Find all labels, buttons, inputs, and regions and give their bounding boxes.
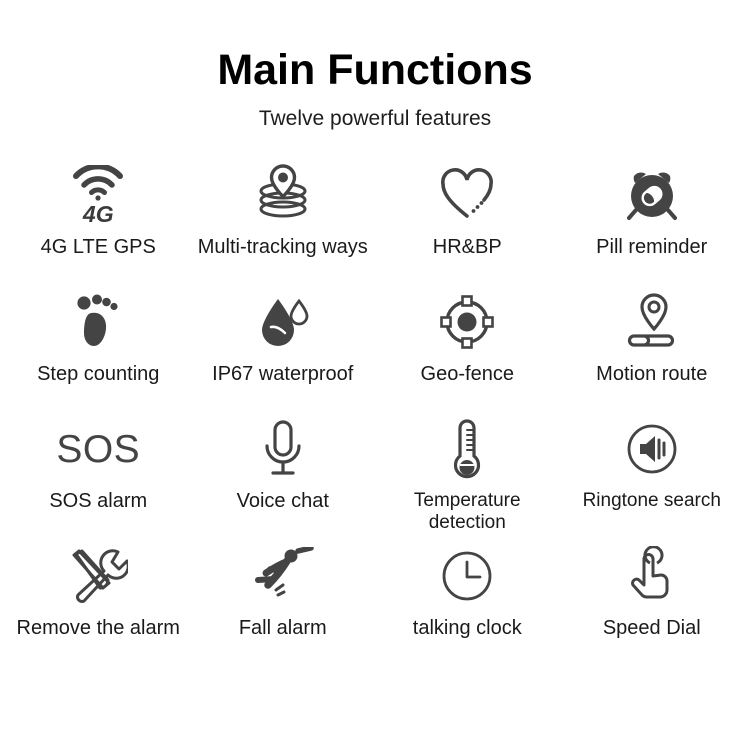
page-subtitle: Twelve powerful features [0, 107, 750, 130]
feature-label: Multi-tracking ways [198, 236, 368, 258]
feature-item-remove-the-alarm[interactable]: Remove the alarm [6, 543, 191, 670]
feature-item-talking-clock[interactable]: talking clock [375, 543, 560, 670]
page-header: Main Functions Twelve powerful features [0, 0, 750, 130]
feature-label: IP67 waterproof [212, 363, 353, 385]
feature-item-step-counting[interactable]: Step counting [6, 289, 191, 416]
feature-label: Fall alarm [239, 617, 327, 639]
feature-item-fall-alarm[interactable]: Fall alarm [191, 543, 376, 670]
feature-label: Remove the alarm [17, 617, 180, 639]
geofence-icon [438, 289, 496, 355]
feature-label: HR&BP [433, 236, 502, 258]
feature-item-hr-bp[interactable]: HR&BP [375, 162, 560, 289]
microphone-icon [259, 416, 307, 482]
feature-label: talking clock [413, 617, 522, 639]
feature-item-geo-fence[interactable]: Geo-fence [375, 289, 560, 416]
feature-item-4g-lte-gps[interactable]: 4G 4G LTE GPS [6, 162, 191, 289]
feature-label: Ringtone search [583, 490, 721, 511]
feature-label: Motion route [596, 363, 707, 385]
clock-icon [440, 543, 494, 609]
water-drop-icon [254, 289, 312, 355]
thermometer-icon [445, 416, 489, 482]
feature-item-sos-alarm[interactable]: SOS SOS alarm [6, 416, 191, 543]
feature-label: SOS alarm [49, 490, 147, 512]
feature-item-voice-chat[interactable]: Voice chat [191, 416, 376, 543]
feature-item-motion-route[interactable]: Motion route [560, 289, 745, 416]
feature-item-ip67-waterproof[interactable]: IP67 waterproof [191, 289, 376, 416]
feature-item-ringtone-search[interactable]: Ringtone search [560, 416, 745, 543]
location-layers-icon [253, 162, 313, 228]
alarm-pill-icon [623, 162, 681, 228]
feature-label: 4G LTE GPS [41, 236, 156, 258]
feature-item-speed-dial[interactable]: Speed Dial [560, 543, 745, 670]
page-title: Main Functions [0, 48, 750, 93]
speaker-volume-icon [625, 416, 679, 482]
tap-hand-icon [625, 543, 679, 609]
feature-label: Step counting [37, 363, 159, 385]
falling-person-icon [250, 543, 316, 609]
tools-wrench-screwdriver-icon [68, 543, 128, 609]
sos-text-icon: SOS [56, 416, 140, 482]
feature-label: Geo-fence [421, 363, 514, 385]
feature-label: Temperature detection [380, 490, 555, 533]
footprint-icon [71, 289, 125, 355]
features-grid: 4G 4G LTE GPS Multi-tracking ways [0, 162, 750, 670]
wifi-4g-badge: 4G [83, 203, 114, 226]
sos-badge: SOS [56, 430, 140, 469]
feature-label: Voice chat [237, 490, 329, 512]
main-functions-page: Main Functions Twelve powerful features … [0, 0, 750, 750]
feature-label: Pill reminder [596, 236, 707, 258]
feature-label: Speed Dial [603, 617, 701, 639]
feature-item-temperature-detection[interactable]: Temperature detection [375, 416, 560, 543]
map-pin-route-icon [621, 289, 683, 355]
feature-item-pill-reminder[interactable]: Pill reminder [560, 162, 745, 289]
heart-pulse-icon [438, 162, 496, 228]
wifi-4g-icon: 4G [71, 162, 125, 228]
feature-item-multi-tracking-ways[interactable]: Multi-tracking ways [191, 162, 376, 289]
